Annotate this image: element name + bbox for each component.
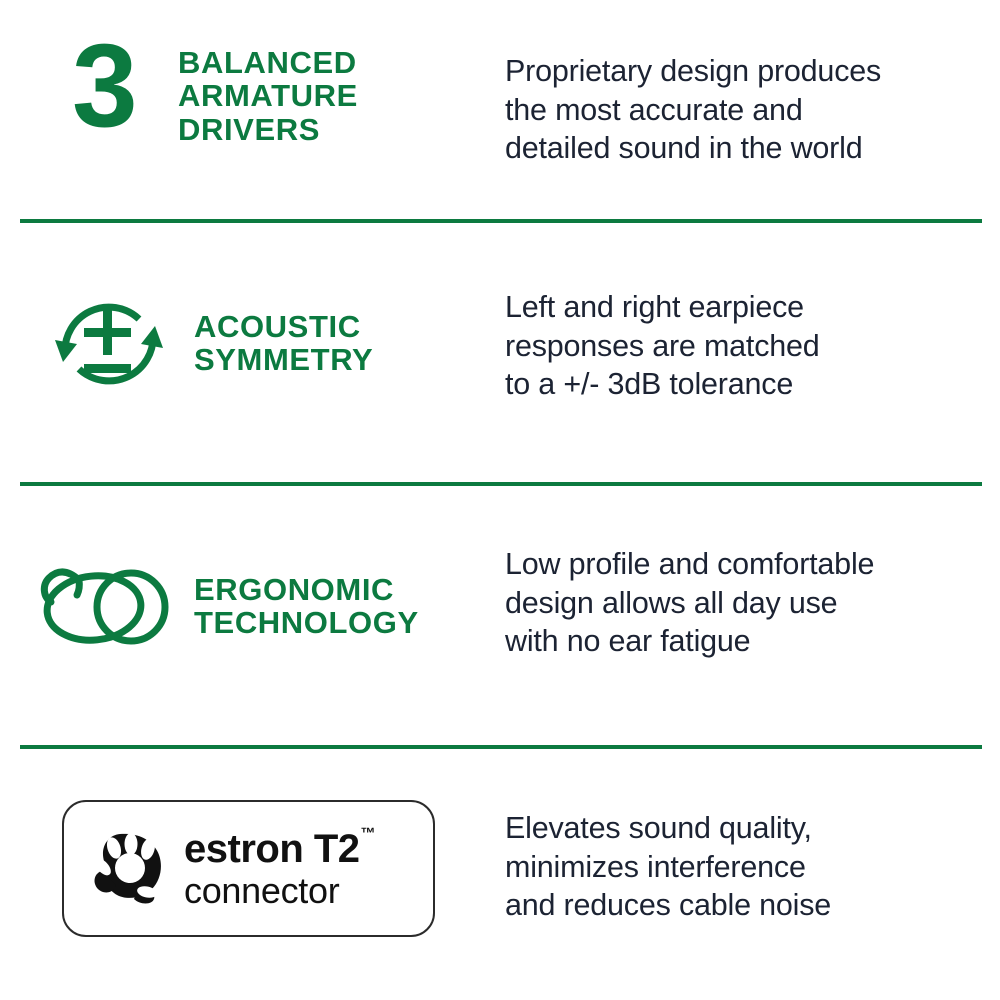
estron-logo-text: estron T2™ connector (184, 829, 374, 909)
feature-description-estron-t2-connector: Elevates sound quality, minimizes interf… (505, 809, 1000, 925)
icon-slot (34, 545, 184, 657)
estron-logo-wordmark: estron T2 (184, 827, 360, 871)
feature-description-balanced-armature-drivers: Proprietary design produces the most acc… (505, 52, 1000, 168)
estron-blob-logo-icon (90, 823, 170, 914)
driver-count-number: 3 (72, 30, 172, 142)
arrow-head-right-icon (141, 326, 163, 348)
divider-3 (20, 745, 982, 749)
estron-t2-connector-logo-badge: estron T2™ connector (62, 800, 435, 937)
trademark-symbol: ™ (361, 825, 376, 842)
feature-heading-ergonomic-technology: ERGONOMIC TECHNOLOGY (194, 573, 419, 640)
estron-logo-line-1: estron T2™ (184, 829, 374, 869)
feature-right-column: Proprietary design produces the most acc… (500, 38, 1000, 168)
estron-logo-line-2: connector (184, 873, 374, 909)
infographic-page: 3 BALANCED ARMATURE DRIVERS Proprietary … (0, 0, 1000, 1000)
feature-left-column: ACOUSTIC SYMMETRY (0, 282, 500, 404)
feature-left-column: ERGONOMIC TECHNOLOGY (0, 545, 500, 657)
feature-description-acoustic-symmetry: Left and right earpiece responses are ma… (505, 288, 1000, 404)
feature-right-column: Elevates sound quality, minimizes interf… (500, 795, 1000, 925)
feature-row: ERGONOMIC TECHNOLOGY Low profile and com… (0, 545, 1000, 685)
feature-row: ACOUSTIC SYMMETRY Left and right earpiec… (0, 282, 1000, 422)
earpiece-outline-icon (39, 545, 179, 657)
cycle-plus-minus-icon (43, 282, 175, 404)
feature-row: 3 BALANCED ARMATURE DRIVERS Proprietary … (0, 38, 1000, 188)
icon-slot (34, 282, 184, 404)
minus-icon (84, 364, 131, 373)
feature-left-column: 3 BALANCED ARMATURE DRIVERS (0, 38, 500, 146)
feature-right-column: Low profile and comfortable design allow… (500, 545, 1000, 661)
feature-heading-balanced-armature-drivers: BALANCED ARMATURE DRIVERS (178, 46, 358, 146)
plus-icon (84, 309, 131, 355)
feature-right-column: Left and right earpiece responses are ma… (500, 282, 1000, 404)
divider-2 (20, 482, 982, 486)
feature-heading-acoustic-symmetry: ACOUSTIC SYMMETRY (194, 310, 373, 377)
feature-description-ergonomic-technology: Low profile and comfortable design allow… (505, 545, 1000, 661)
arrow-head-left-icon (55, 340, 77, 362)
divider-1 (20, 219, 982, 223)
